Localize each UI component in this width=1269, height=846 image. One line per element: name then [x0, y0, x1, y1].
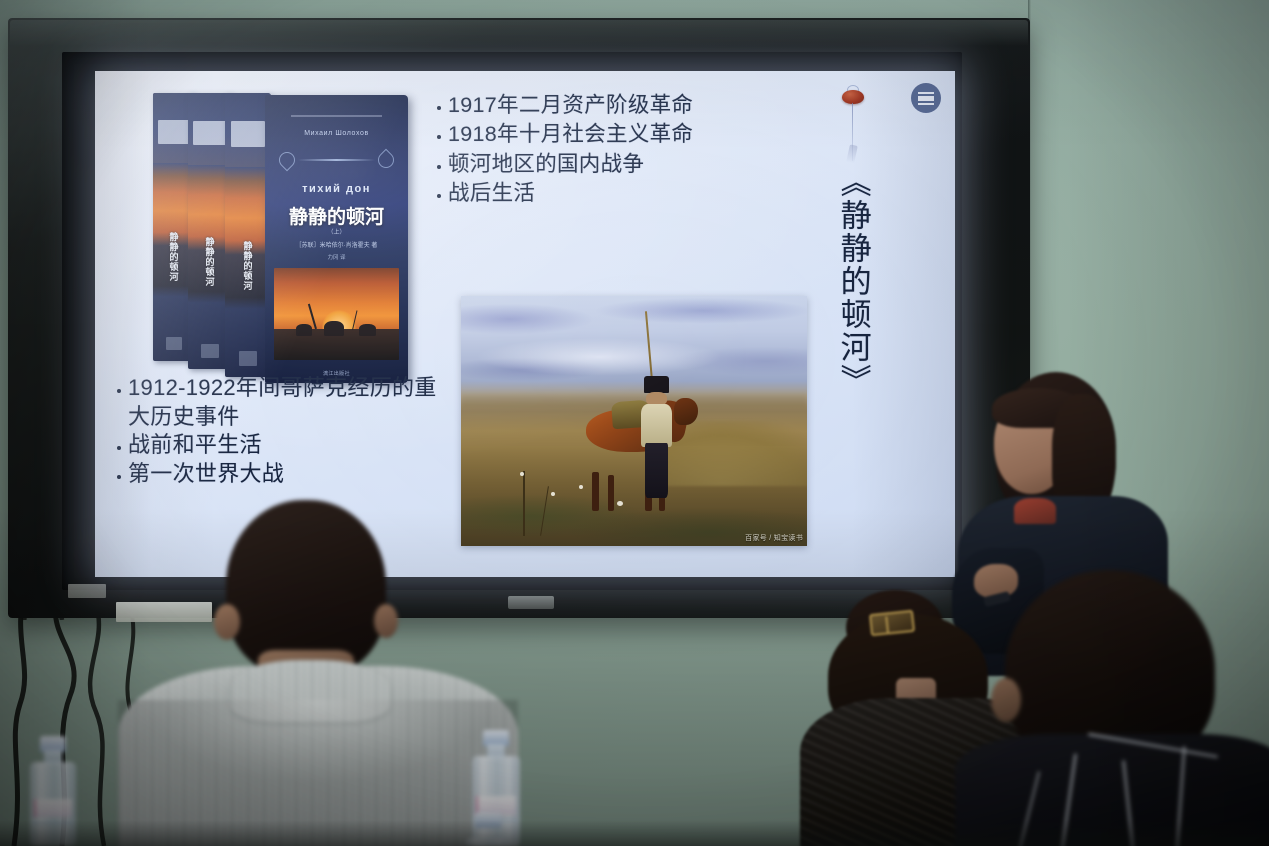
classroom-scene: 静静的顿河 静静的顿河 静静的顿河: [0, 0, 1269, 846]
wall-shading: [0, 0, 1269, 846]
